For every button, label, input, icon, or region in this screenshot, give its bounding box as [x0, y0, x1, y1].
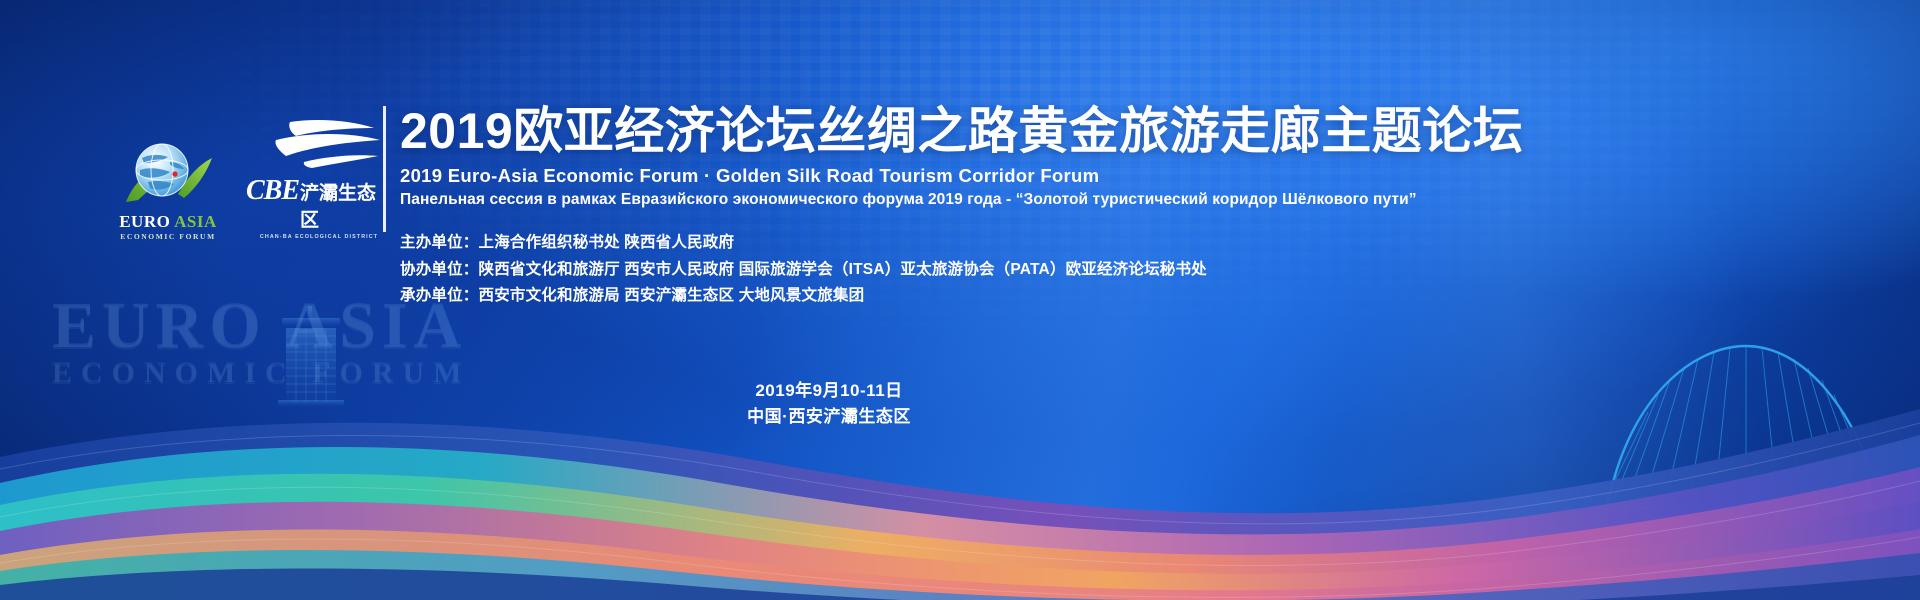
logo-cbe[interactable]: CBE 浐灞生态区 CHAN-BA ECOLOGICAL DISTRICT: [246, 118, 392, 240]
event-banner: EURO ASIA ECONOMIC FORUM: [0, 0, 1920, 600]
organizer-line-host: 主办单位：上海合作组织秘书处 陕西省人民政府: [400, 230, 1523, 257]
event-date-place: 2019年9月10-11日 中国·西安浐灞生态区: [718, 378, 940, 431]
header-divider: [383, 106, 386, 232]
logo-euro-subtitle: ECONOMIC FORUM: [112, 233, 224, 241]
logo-euro-word-1: EURO: [119, 212, 170, 231]
organizer-line-coorganizer: 协办单位：陕西省文化和旅游厅 西安市人民政府 国际旅游学会（ITSA）亚太旅游协…: [400, 257, 1523, 284]
logo-cbe-subtitle: CHAN-BA ECOLOGICAL DISTRICT: [246, 234, 392, 240]
logo-group: EURO ASIA ECONOMIC FORUM CBE 浐灞生态区 CHAN-…: [112, 118, 392, 240]
globe-icon: [112, 136, 224, 208]
decorative-wave-ribbons: [0, 365, 1920, 600]
event-place: 中国·西安浐灞生态区: [718, 404, 940, 430]
cbe-swoosh-icon: [246, 118, 392, 170]
subtitle-english: 2019 Euro-Asia Economic Forum · Golden S…: [400, 165, 1523, 187]
logo-euro-asia-text: EURO ASIA ECONOMIC FORUM: [112, 213, 224, 241]
event-date: 2019年9月10-11日: [718, 378, 940, 404]
logo-euro-word-2: ASIA: [174, 212, 217, 231]
organizer-list: 主办单位：上海合作组织秘书处 陕西省人民政府 协办单位：陕西省文化和旅游厅 西安…: [400, 230, 1523, 310]
page-title: 2019欧亚经济论坛丝绸之路黄金旅游走廊主题论坛: [400, 105, 1523, 158]
organizer-line-executor: 承办单位：西安市文化和旅游局 西安浐灞生态区 大地风景文旅集团: [400, 283, 1523, 310]
banner-text-block: 2019欧亚经济论坛丝绸之路黄金旅游走廊主题论坛 2019 Euro-Asia …: [400, 105, 1523, 310]
subtitle-russian: Панельная сессия в рамках Евразийского э…: [400, 191, 1523, 209]
logo-cbe-name: 浐灞生态区: [300, 178, 392, 232]
logo-euro-asia[interactable]: EURO ASIA ECONOMIC FORUM: [112, 136, 224, 241]
logo-cbe-mark: CBE: [246, 175, 299, 207]
